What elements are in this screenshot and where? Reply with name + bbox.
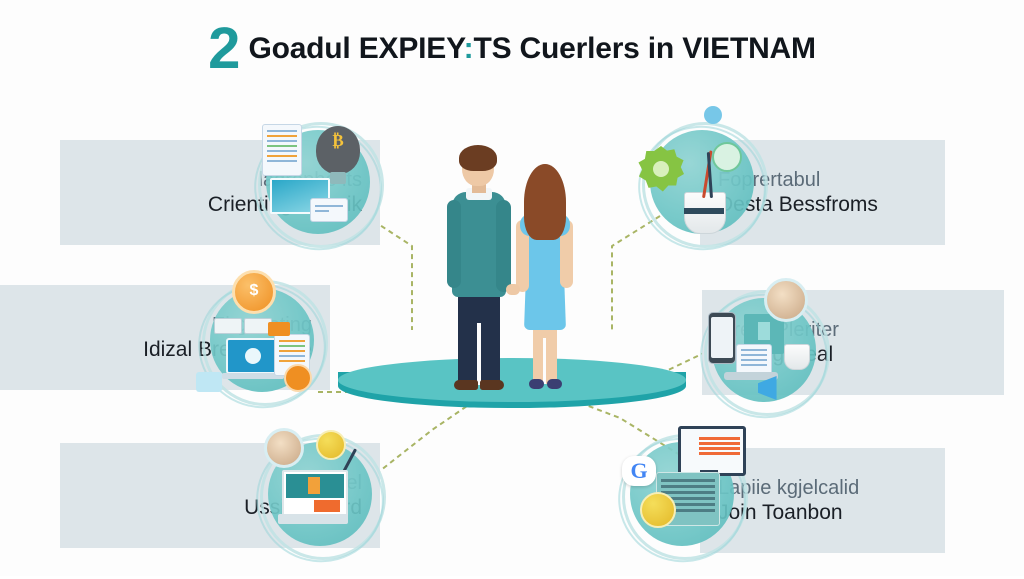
- mug-icon: [784, 344, 810, 370]
- man-arm-left: [447, 200, 461, 288]
- woman-shoe-right: [547, 379, 562, 389]
- laptop-icon: [226, 338, 280, 374]
- avatar-icon: [764, 278, 808, 322]
- monitor-table-icon: [678, 426, 746, 476]
- cluster-ring-outer: [622, 109, 782, 266]
- avatar-icon: [264, 428, 304, 468]
- woman-shoe-left: [529, 379, 544, 389]
- archive-box-label: [758, 322, 770, 340]
- award-badge-icon: [316, 430, 346, 460]
- blue-dot-icon: [704, 106, 722, 124]
- panel-bottom-right-line2: Join Toanbon: [718, 500, 927, 526]
- icon-cluster-top-left[interactable]: ₿: [256, 120, 380, 244]
- title-part-1: Goadul EXPIEY: [248, 32, 463, 65]
- cup-band-icon: [684, 208, 724, 214]
- user-badge-icon: [284, 364, 312, 392]
- card-icon: [310, 198, 348, 222]
- bitcoin-symbol: ₿: [316, 126, 360, 156]
- google-g-letter: G: [630, 458, 647, 484]
- lightbulb-bitcoin-icon: ₿: [316, 126, 360, 174]
- laptop-screen-dot: [245, 348, 261, 364]
- bookmark-icon: [268, 322, 290, 336]
- man-arm-right: [496, 200, 511, 292]
- title-text: Goadul EXPIEY:TS Cuerlers in VIETNAM: [248, 32, 815, 66]
- cash-stack-icon: [214, 318, 242, 334]
- icon-cluster-middle-right[interactable]: [702, 288, 826, 412]
- smartphone-icon: [708, 312, 736, 364]
- cash-icon: [196, 372, 222, 392]
- man-leg-gap: [477, 323, 481, 385]
- panel-bottom-right-line1: Lapiie kgjelcalid: [718, 476, 927, 500]
- icon-cluster-bottom-left[interactable]: [258, 432, 382, 556]
- man-shoe-left: [454, 380, 478, 390]
- icon-cluster-bottom-right[interactable]: G: [620, 432, 744, 556]
- lightbulb-base-icon: [330, 172, 346, 184]
- couple-illustration: [432, 148, 592, 398]
- woman-hair: [524, 164, 566, 240]
- webpage-cta: [314, 500, 340, 512]
- google-g-icon[interactable]: G: [622, 456, 656, 486]
- held-hands: [506, 284, 520, 295]
- dollar-symbol: $: [250, 282, 259, 299]
- man-hair: [459, 145, 497, 171]
- title-colon: :: [464, 32, 474, 65]
- webpage-accent: [308, 477, 320, 494]
- title-part-2: TS Cuerlers in VIETNAM: [473, 32, 815, 65]
- document-icon: [262, 124, 302, 176]
- dollar-coin-icon: $: [232, 270, 276, 314]
- title-number: 2: [208, 20, 238, 78]
- icon-cluster-middle-left[interactable]: $: [200, 278, 324, 402]
- gear-inner-icon: [653, 161, 669, 177]
- man-shoe-right: [480, 380, 504, 390]
- globe-icon: [712, 142, 742, 172]
- infographic-canvas: 2 Goadul EXPIEY:TS Cuerlers in VIETNAM l…: [0, 0, 1024, 576]
- woman-leg-gap: [543, 338, 546, 384]
- keyboard-icon: [278, 514, 348, 524]
- award-badge-icon: [640, 492, 676, 528]
- laptop-webpage-icon: [282, 470, 348, 518]
- page-title: 2 Goadul EXPIEY:TS Cuerlers in VIETNAM: [0, 20, 1024, 78]
- icon-cluster-top-right[interactable]: [640, 120, 764, 244]
